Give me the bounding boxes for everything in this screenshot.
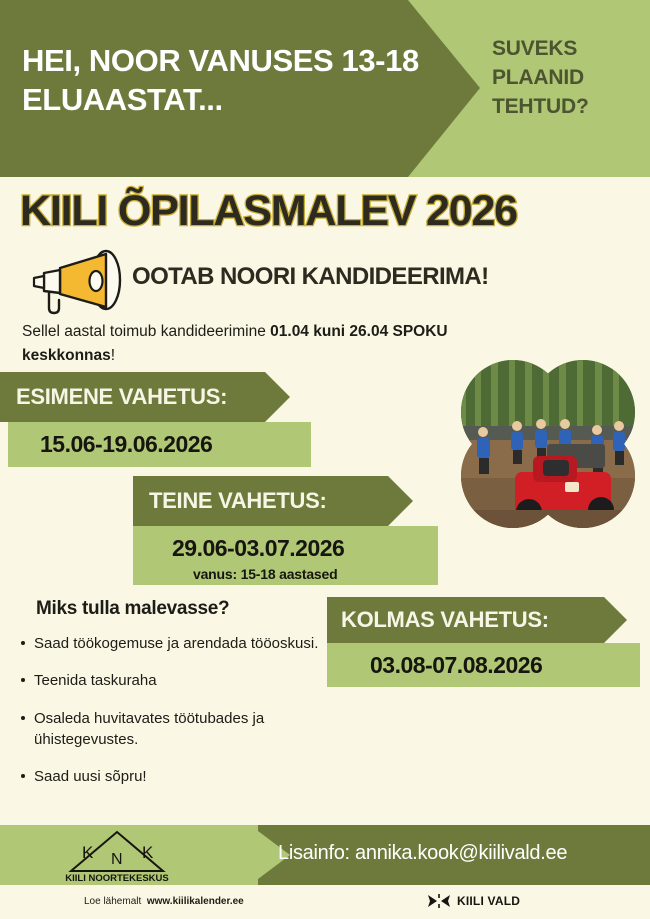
shift-2-label: TEINE VAHETUS: bbox=[133, 476, 413, 526]
benefits-list: Saad töökogemuse ja arendada tööoskusi. … bbox=[20, 633, 320, 803]
knk-letter-right: K bbox=[142, 843, 154, 862]
poster: HEI, NOOR VANUSES 13-18 ELUAASTAT... SUV… bbox=[0, 0, 650, 919]
knk-caption: KIILI NOORTEKESKUS bbox=[65, 873, 168, 884]
megaphone-row: OOTAB NOORI KANDIDEERIMA! bbox=[20, 246, 630, 318]
shift-3-label: KOLMAS VAHETUS: bbox=[327, 597, 627, 643]
camp-photo bbox=[455, 360, 641, 528]
megaphone-icon bbox=[24, 248, 128, 316]
application-period-text: Sellel aastal toimub kandideerimine 01.0… bbox=[22, 320, 472, 368]
list-item: Saad töökogemuse ja arendada tööoskusi. bbox=[20, 633, 320, 654]
kiili-vald-label: KIILI VALD bbox=[457, 894, 520, 908]
header-title: HEI, NOOR VANUSES 13-18 ELUAASTAT... bbox=[22, 42, 422, 120]
header-banner: HEI, NOOR VANUSES 13-18 ELUAASTAT... SUV… bbox=[0, 0, 650, 177]
shift-2-dates: 29.06-03.07.2026 bbox=[133, 526, 438, 570]
shift-1-dates: 15.06-19.06.2026 bbox=[8, 422, 311, 467]
list-item: Saad uusi sõpru! bbox=[20, 766, 320, 787]
megaphone-heading: OOTAB NOORI KANDIDEERIMA! bbox=[132, 263, 489, 291]
credit-website[interactable]: www.kiilikalender.ee bbox=[147, 896, 244, 907]
apply-suffix: ! bbox=[111, 347, 115, 364]
header-side-text: SUVEKS PLAANID TEHTUD? bbox=[492, 35, 642, 122]
benefits-title: Miks tulla malevasse? bbox=[36, 598, 229, 620]
knk-letter-middle: N bbox=[111, 851, 123, 868]
contact-email[interactable]: Lisainfo: annika.kook@kiilivald.ee bbox=[278, 842, 567, 865]
knk-letter-left: K bbox=[82, 843, 94, 862]
list-item: Osaleda huvitavates töötubades ja ühiste… bbox=[20, 708, 320, 751]
credit-line: Loe lähemalt www.kiilikalender.ee bbox=[84, 896, 244, 907]
apply-prefix: Sellel aastal toimub kandideerimine bbox=[22, 323, 270, 340]
shift-3-dates: 03.08-07.08.2026 bbox=[327, 643, 640, 687]
list-item: Teenida taskuraha bbox=[20, 670, 320, 691]
shift-1-label: ESIMENE VAHETUS: bbox=[0, 372, 290, 422]
page-title: KIILI ÕPILASMALEV 2026 bbox=[20, 187, 635, 236]
kiili-vald-mark-icon bbox=[428, 894, 450, 908]
kiili-vald-logo: KIILI VALD bbox=[428, 894, 520, 908]
shift-2-age-note: vanus: 15-18 aastased bbox=[193, 566, 337, 582]
kiili-noortekeskus-logo: K N K KIILI NOORTEKESKUS bbox=[58, 826, 176, 884]
credit-prefix: Loe lähemalt bbox=[84, 896, 141, 907]
